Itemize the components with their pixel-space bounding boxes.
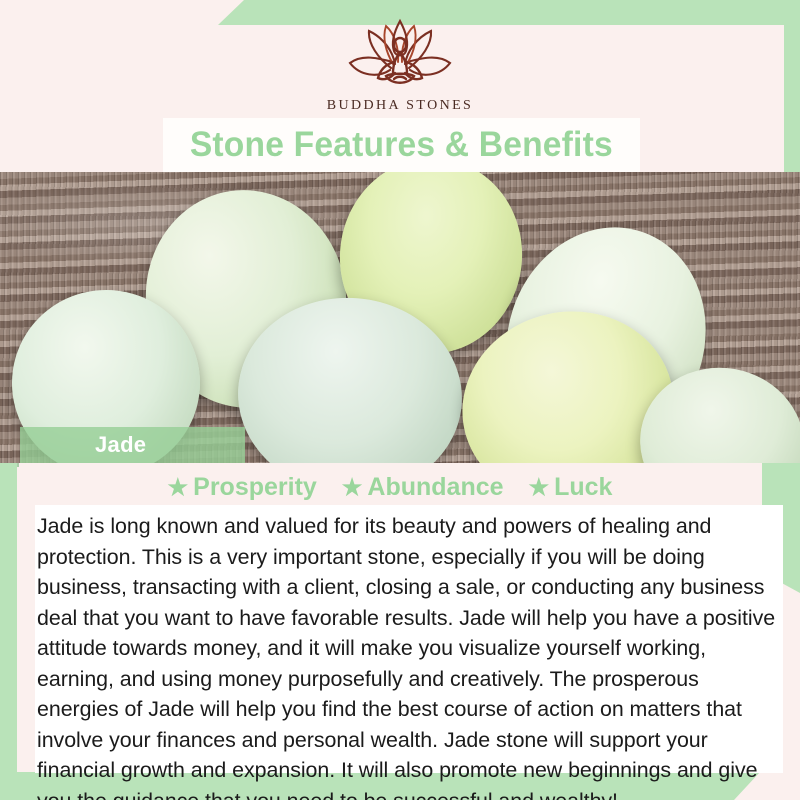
star-icon: ★ (342, 476, 363, 499)
description-text: Jade is long known and valued for its be… (37, 511, 775, 800)
benefit-label: Luck (554, 473, 612, 501)
benefit-item: ★Luck (528, 473, 612, 502)
decor-left-text-strip (0, 455, 17, 800)
benefit-item: ★Prosperity (168, 473, 317, 502)
page-title: Stone Features & Benefits (190, 125, 613, 165)
hero-photo (0, 172, 800, 463)
benefit-label: Prosperity (193, 473, 317, 501)
description-card: Jade is long known and valued for its be… (35, 505, 783, 773)
brand-logo: BUDDHA STONES (0, 18, 800, 114)
benefits-list: ★Prosperity ★Abundance ★Luck (17, 473, 763, 502)
star-icon: ★ (528, 476, 549, 499)
benefit-item: ★Abundance (342, 473, 504, 502)
header-banner: Stone Features & Benefits (163, 118, 640, 172)
lotus-meditation-icon (336, 18, 464, 96)
content-section: ★Prosperity ★Abundance ★Luck Jade is lon… (17, 463, 783, 773)
star-icon: ★ (168, 476, 189, 499)
stone-name-label: Jade (95, 432, 146, 458)
benefit-label: Abundance (367, 473, 503, 501)
brand-name: BUDDHA STONES (0, 98, 800, 114)
poster-root: BUDDHA STONES Stone Features & Benefits … (0, 0, 800, 800)
stone-name-bar: Jade (20, 427, 245, 463)
